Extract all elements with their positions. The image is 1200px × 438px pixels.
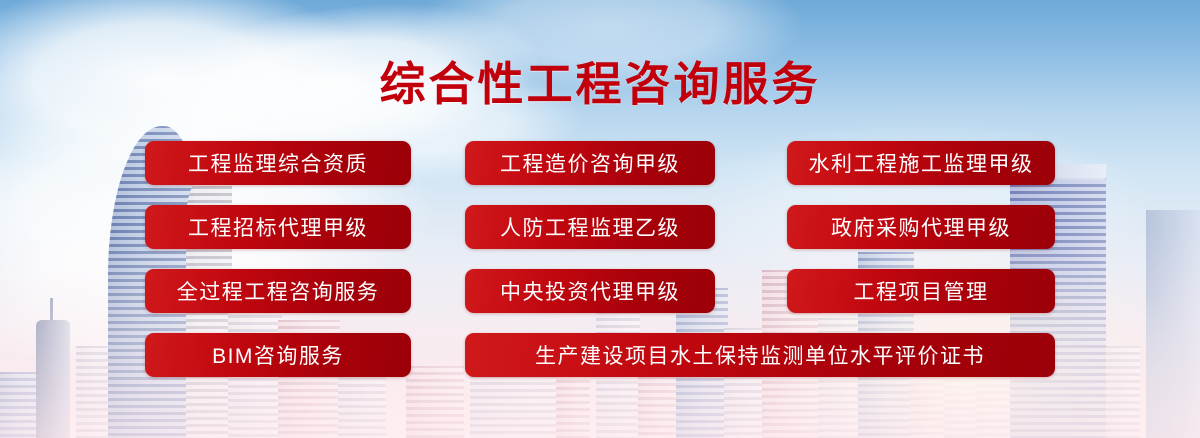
layout-spacer [411,269,465,313]
layout-spacer [715,141,787,185]
qualification-badge[interactable]: 中央投资代理甲级 [465,269,715,313]
qualification-badge-grid: 工程监理综合资质 工程造价咨询甲级 水利工程施工监理甲级 工程招标代理甲级 人防… [145,141,1057,377]
qualification-badge[interactable]: 人防工程监理乙级 [465,205,715,249]
layout-spacer [715,205,787,249]
qualification-badge[interactable]: 全过程工程咨询服务 [145,269,411,313]
hero-banner: 综合性工程咨询服务 工程监理综合资质 工程造价咨询甲级 水利工程施工监理甲级 工… [0,0,1200,438]
badge-row: 全过程工程咨询服务 中央投资代理甲级 工程项目管理 [145,269,1057,313]
qualification-badge[interactable]: 政府采购代理甲级 [787,205,1055,249]
qualification-badge[interactable]: 工程项目管理 [787,269,1055,313]
badge-row: 工程招标代理甲级 人防工程监理乙级 政府采购代理甲级 [145,205,1057,249]
banner-content: 综合性工程咨询服务 工程监理综合资质 工程造价咨询甲级 水利工程施工监理甲级 工… [0,0,1200,438]
badge-row: 工程监理综合资质 工程造价咨询甲级 水利工程施工监理甲级 [145,141,1057,185]
layout-spacer [411,205,465,249]
page-title: 综合性工程咨询服务 [0,48,1200,114]
layout-spacer [715,269,787,313]
qualification-badge[interactable]: 工程监理综合资质 [145,141,411,185]
qualification-badge[interactable]: 水利工程施工监理甲级 [787,141,1055,185]
layout-spacer [411,333,465,377]
qualification-badge[interactable]: 工程造价咨询甲级 [465,141,715,185]
badge-row: BIM咨询服务 生产建设项目水土保持监测单位水平评价证书 [145,333,1057,377]
qualification-badge[interactable]: BIM咨询服务 [145,333,411,377]
qualification-badge[interactable]: 工程招标代理甲级 [145,205,411,249]
qualification-badge[interactable]: 生产建设项目水土保持监测单位水平评价证书 [465,333,1055,377]
layout-spacer [411,141,465,185]
